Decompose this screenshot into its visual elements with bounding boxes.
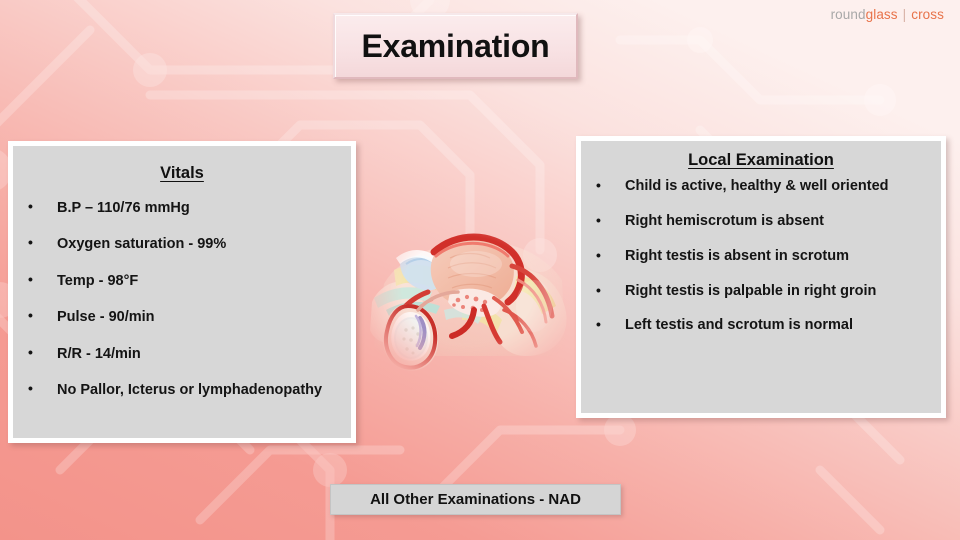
logo-word-glass: glass <box>866 7 898 22</box>
vitals-list: B.P – 110/76 mmHg Oxygen saturation - 99… <box>13 197 351 402</box>
logo-separator: | <box>903 7 907 22</box>
list-item: R/R - 14/min <box>13 343 351 365</box>
list-item: Right hemiscrotum is absent <box>581 212 941 231</box>
logo-word-cross: cross <box>911 7 944 22</box>
list-item: Pulse - 90/min <box>13 306 351 328</box>
list-item: Oxygen saturation - 99% <box>13 233 351 255</box>
list-item: Left testis and scrotum is normal <box>581 316 941 335</box>
slide-canvas: roundglass|cross Examination <box>0 0 960 540</box>
local-examination-list: Child is active, healthy & well oriented… <box>581 177 941 335</box>
local-examination-panel: Local Examination Child is active, healt… <box>576 136 946 418</box>
list-item: Right testis is absent in scrotum <box>581 247 941 266</box>
brand-logo: roundglass|cross <box>831 7 944 22</box>
list-item: No Pallor, Icterus or lymphadenopathy <box>13 379 351 401</box>
page-title: Examination <box>361 28 549 65</box>
list-item: Temp - 98°F <box>13 270 351 292</box>
list-item: Child is active, healthy & well oriented <box>581 177 941 196</box>
vitals-heading: Vitals <box>13 164 351 183</box>
footer-banner: All Other Examinations - NAD <box>330 484 621 515</box>
list-item: B.P – 110/76 mmHg <box>13 197 351 219</box>
local-examination-heading: Local Examination <box>581 151 941 170</box>
list-item: Right testis is palpable in right groin <box>581 282 941 301</box>
vitals-panel: Vitals B.P – 110/76 mmHg Oxygen saturati… <box>8 141 356 443</box>
footer-text: All Other Examinations - NAD <box>370 491 581 508</box>
logo-word-round: round <box>831 7 866 22</box>
slide-title-box: Examination <box>333 13 578 79</box>
male-genitourinary-cross-section-illustration <box>366 206 570 374</box>
